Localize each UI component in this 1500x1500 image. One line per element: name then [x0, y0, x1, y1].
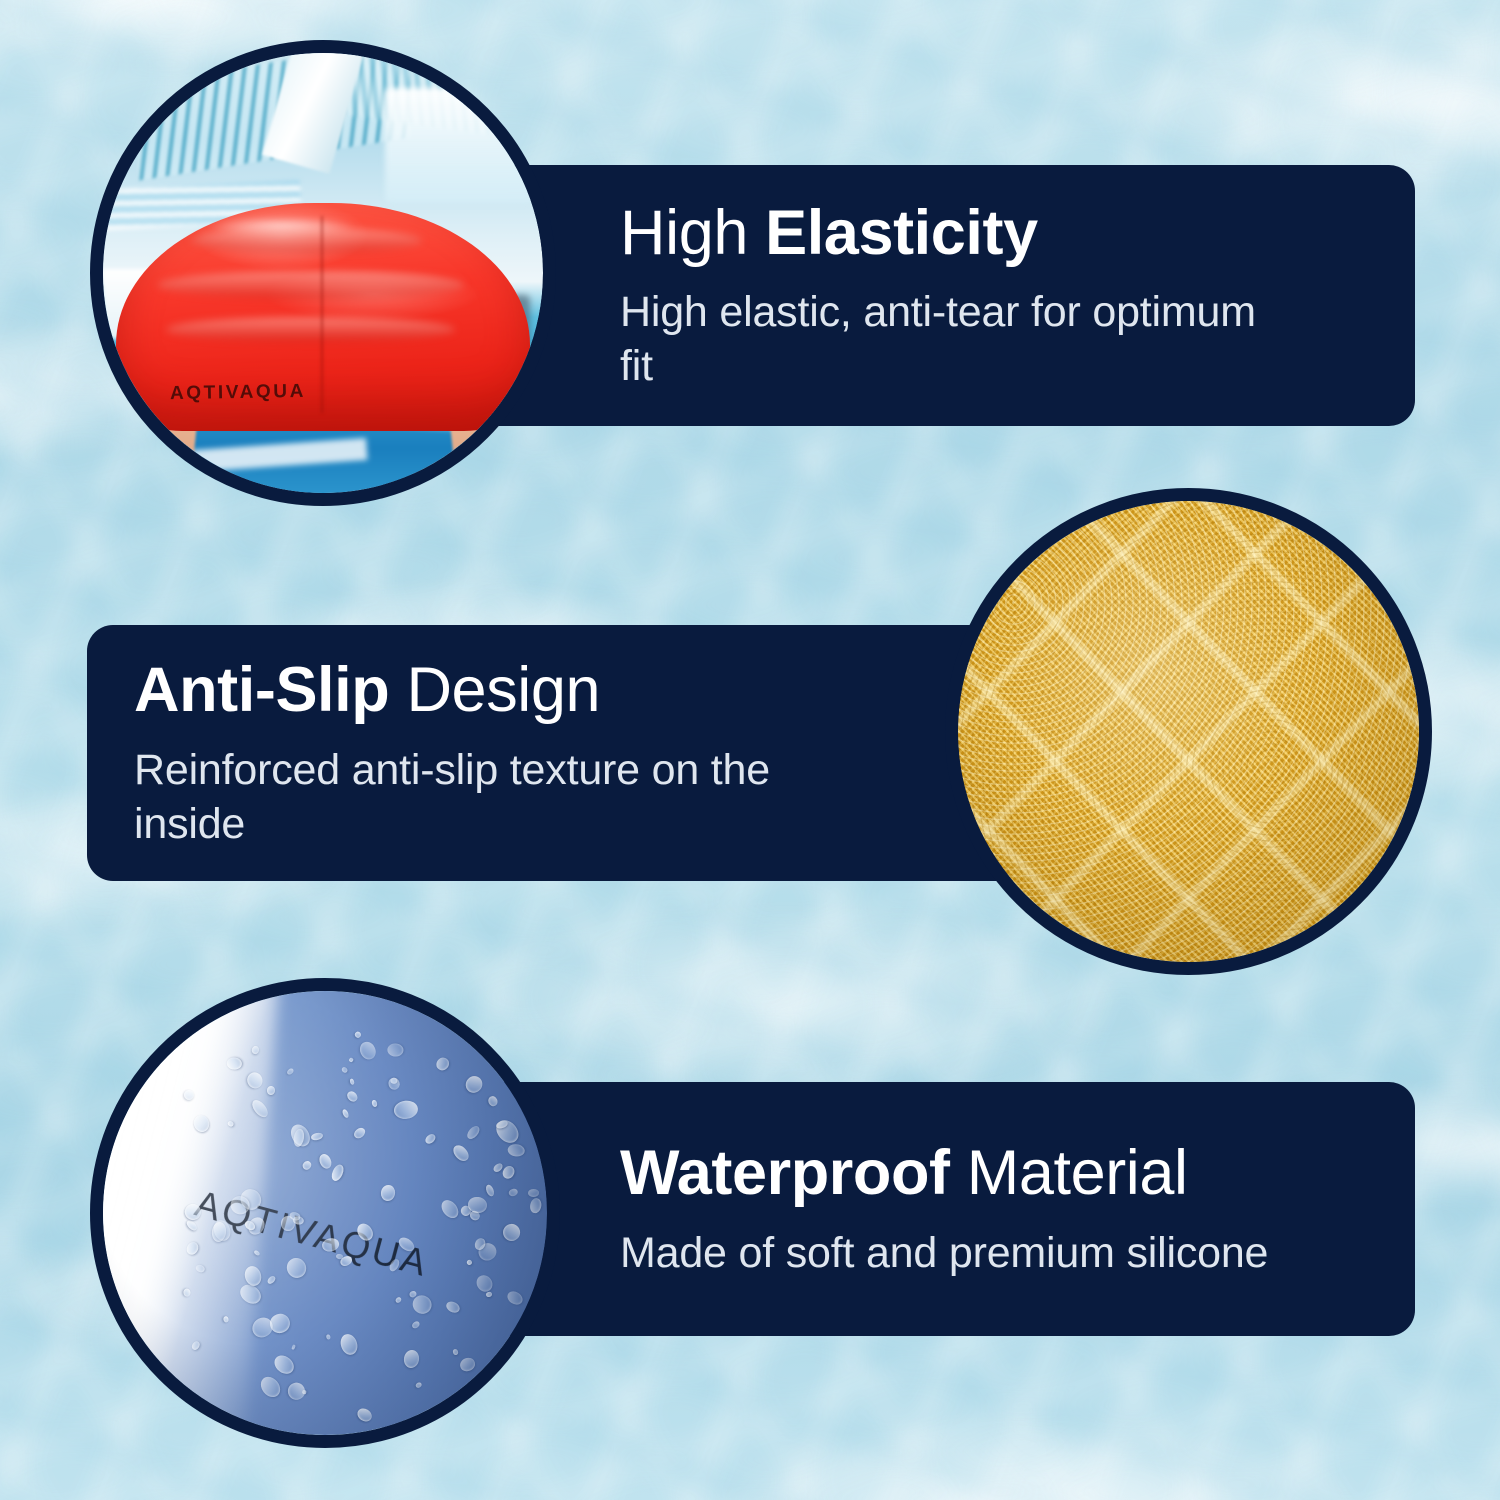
feature-text-block: High Elasticity High elastic, anti-tear … — [620, 198, 1320, 394]
red-swim-cap-photo: AQTIVAQUA — [103, 53, 543, 493]
feature-subtext: Reinforced anti-slip texture on the insi… — [134, 743, 794, 851]
headline-bold-part: Waterproof — [620, 1138, 950, 1208]
feature-image-anti-slip-design — [945, 488, 1432, 975]
cap-fold-1 — [191, 228, 423, 253]
gold-anti-slip-texture-photo — [958, 501, 1419, 962]
feature-text-block: Waterproof Material Made of soft and pre… — [620, 1138, 1360, 1280]
cap-brand-label: AQTIVAQUA — [170, 381, 306, 405]
feature-text-block: Anti-Slip Design Reinforced anti-slip te… — [134, 655, 894, 851]
feature-subtext: Made of soft and premium silicone — [620, 1226, 1280, 1280]
headline-bold-part: Elasticity — [765, 198, 1038, 268]
feature-headline: Waterproof Material — [620, 1138, 1360, 1209]
infographic-canvas: High Elasticity High elastic, anti-tear … — [0, 0, 1500, 1500]
feature-headline: High Elasticity — [620, 198, 1320, 269]
headline-light-part: Design — [389, 655, 600, 725]
feature-subtext: High elastic, anti-tear for optimum fit — [620, 285, 1280, 393]
headline-bold-part: Anti-Slip — [134, 655, 389, 725]
feature-image-waterproof-material: AQTIVAQUA — [90, 978, 560, 1448]
feature-headline: Anti-Slip Design — [134, 655, 894, 726]
cap-fold-3 — [166, 317, 456, 342]
window-strip — [385, 88, 535, 202]
gold-vignette — [958, 501, 1419, 962]
cap-seam — [321, 216, 324, 413]
feature-image-high-elasticity: AQTIVAQUA — [90, 40, 556, 506]
headline-light-part: High — [620, 198, 765, 268]
cap-fold-2 — [158, 271, 464, 298]
blue-cap-vignette — [103, 991, 547, 1435]
headline-light-part: Material — [950, 1138, 1188, 1208]
blue-swim-cap-water-droplets-photo: AQTIVAQUA — [103, 991, 547, 1435]
